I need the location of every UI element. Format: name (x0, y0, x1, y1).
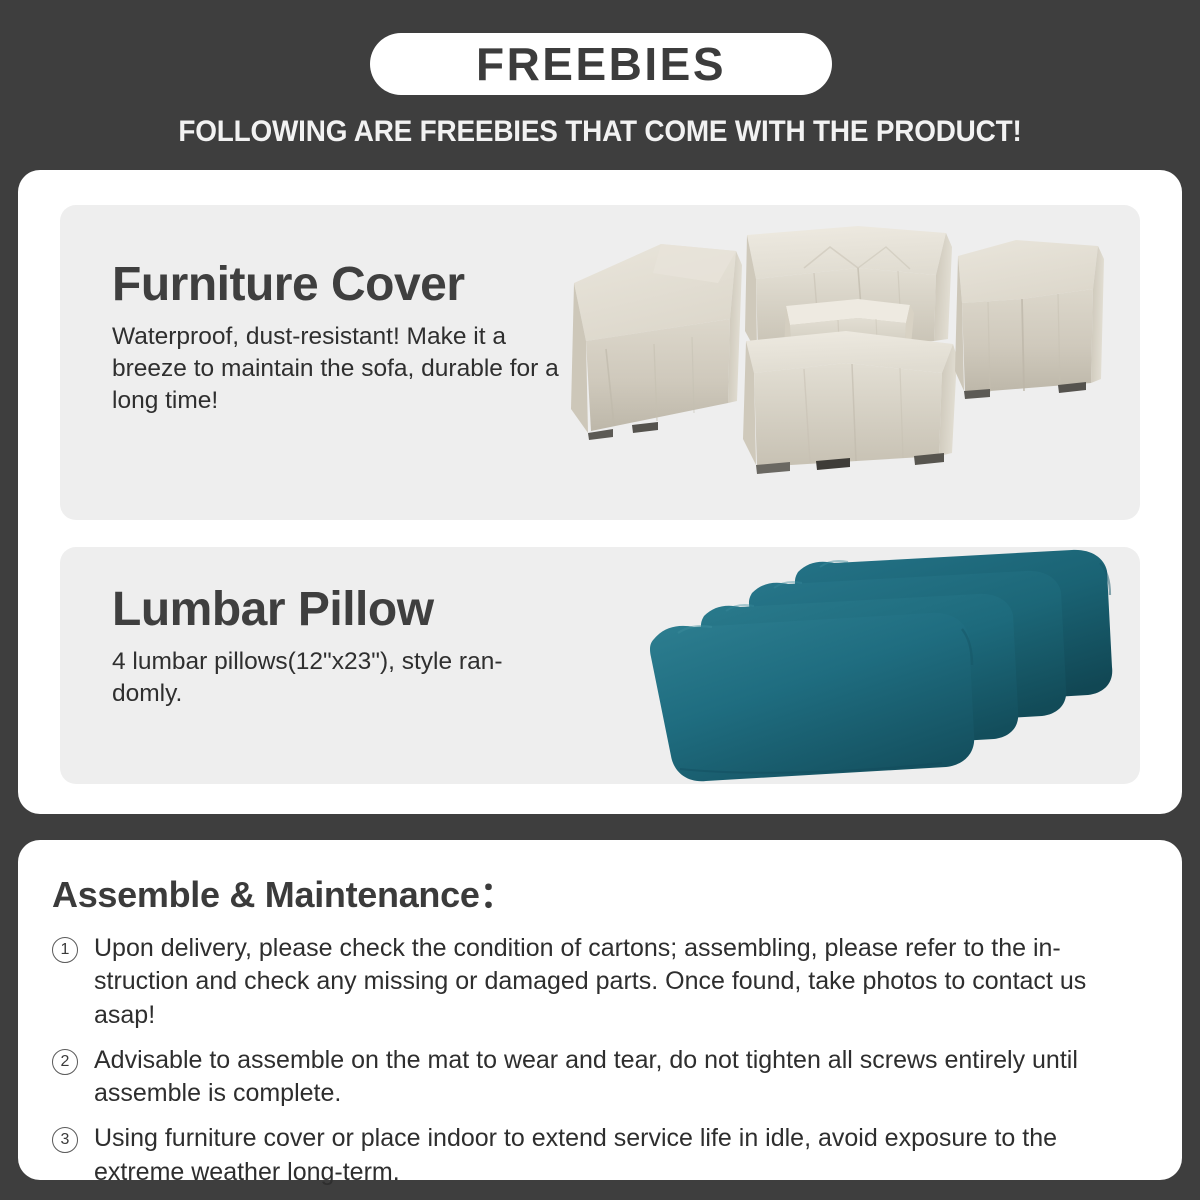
pillow-1 (650, 613, 974, 781)
list-marker-3: 3 (52, 1127, 78, 1153)
page-title: FREEBIES (476, 41, 726, 87)
lumbar-pillow-description: 4 lumbar pillows(12"x23"), style ran-dom… (112, 646, 572, 710)
assemble-maintenance-card: Assemble & Maintenance： 1 Upon delivery,… (18, 840, 1182, 1180)
list-item-text-3: Using furniture cover or place indoor to… (94, 1122, 1148, 1189)
list-marker-2: 2 (52, 1049, 78, 1075)
list-item: 3 Using furniture cover or place indoor … (52, 1122, 1148, 1189)
lumbar-pillow-text-block: Lumbar Pillow 4 lumbar pillows(12"x23"),… (112, 585, 572, 710)
list-item: 1 Upon delivery, please check the condit… (52, 932, 1148, 1032)
title-pill-badge: FREEBIES (370, 33, 832, 95)
page-subtitle: FOLLOWING ARE FREEBIES THAT COME WITH TH… (42, 115, 1158, 149)
freebies-card: Furniture Cover Waterproof, dust-resista… (18, 170, 1182, 814)
assemble-section-title: Assemble & Maintenance： (52, 866, 1148, 918)
teal-lumbar-pillows-photo (620, 547, 1140, 784)
furniture-cover-description: Waterproof, dust-resistant! Make it a br… (112, 321, 572, 417)
list-item: 2 Advisable to assemble on the mat to we… (52, 1044, 1148, 1111)
lumbar-pillow-title: Lumbar Pillow (112, 585, 572, 636)
furniture-cover-text-block: Furniture Cover Waterproof, dust-resista… (112, 260, 572, 416)
freebie-panel-lumbar-pillow: Lumbar Pillow 4 lumbar pillows(12"x23"),… (60, 547, 1140, 784)
list-marker-1: 1 (52, 937, 78, 963)
list-item-text-2: Advisable to assemble on the mat to wear… (94, 1044, 1148, 1111)
freebie-panel-furniture-cover: Furniture Cover Waterproof, dust-resista… (60, 205, 1140, 520)
furniture-cover-title: Furniture Cover (112, 260, 572, 311)
page-header: FREEBIES FOLLOWING ARE FREEBIES THAT COM… (0, 0, 1200, 160)
list-item-text-1: Upon delivery, please check the conditio… (94, 932, 1148, 1032)
assemble-instruction-list: 1 Upon delivery, please check the condit… (52, 932, 1148, 1189)
freebies-infographic-page: FREEBIES FOLLOWING ARE FREEBIES THAT COM… (0, 0, 1200, 1200)
furniture-cover-set-photo (558, 213, 1133, 513)
